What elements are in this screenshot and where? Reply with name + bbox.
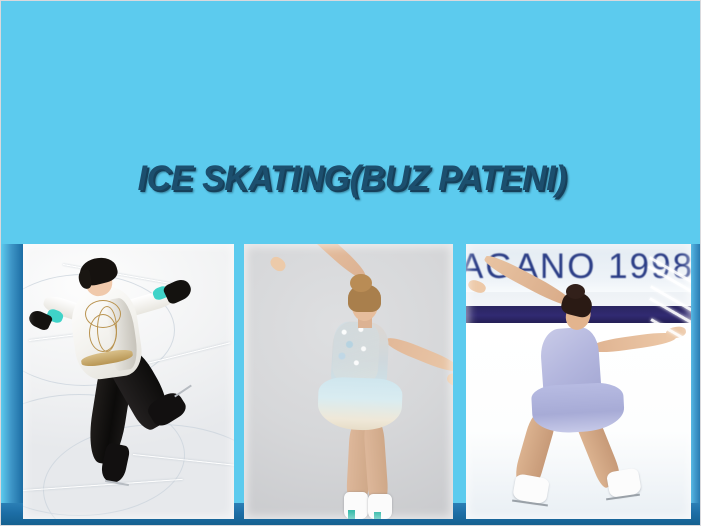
skater-hair-bun xyxy=(566,284,585,299)
male-skater-figure xyxy=(23,244,234,519)
title-block: ICE SKATING(BUZ PATENI) xyxy=(1,159,701,199)
female-skater-back-photo xyxy=(244,244,453,519)
skate-blade-teal xyxy=(374,512,381,519)
presentation-slide: ICE SKATING(BUZ PATENI) xyxy=(0,0,701,526)
costume-beaded-back xyxy=(331,321,380,383)
skater-hair-bun xyxy=(350,274,372,292)
male-figure-skater-photo xyxy=(23,244,234,519)
page-title: ICE SKATING(BUZ PATENI) xyxy=(137,159,566,199)
left-accent-band xyxy=(1,244,23,526)
skate-blade-teal xyxy=(348,510,355,519)
skate-blade xyxy=(174,385,192,398)
costume-gold-trim xyxy=(97,306,117,352)
nagano-1998-skater-photo: AGANO 1998 xyxy=(466,244,691,519)
